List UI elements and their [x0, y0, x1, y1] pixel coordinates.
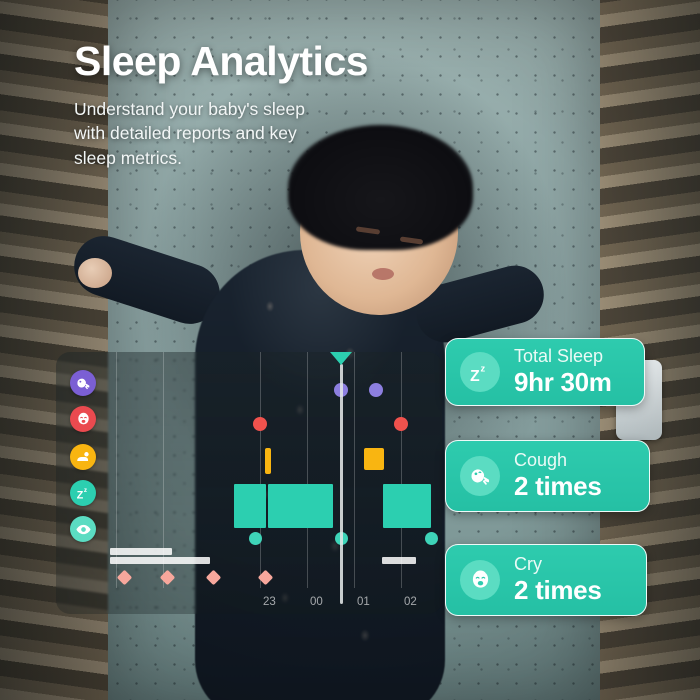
timeline-playhead[interactable]	[340, 364, 343, 604]
baby-hand-left	[78, 258, 112, 288]
headline-block: Sleep Analytics Understand your baby's s…	[74, 40, 434, 171]
timeline-bar-sleep[interactable]	[383, 484, 431, 528]
legend-icon-sleep[interactable]: Zz	[70, 480, 96, 506]
card-value: 2 times	[514, 575, 602, 606]
timeline-dot-cough[interactable]	[369, 383, 383, 397]
timeline-bar-noise-level-low[interactable]	[382, 557, 416, 564]
cry-face-icon	[460, 560, 500, 600]
svg-text:z: z	[83, 487, 86, 494]
timeline-playhead-handle[interactable]	[330, 352, 352, 365]
timeline-bar-roll-over[interactable]	[265, 448, 271, 474]
card-value: 9hr 30m	[514, 367, 612, 398]
timeline-bar-roll-over[interactable]	[364, 448, 384, 470]
timeline-legend-rail: Zz	[70, 358, 110, 614]
card-text: Total Sleep 9hr 30m	[514, 347, 612, 397]
sleep-analytics-screenshot: Sleep Analytics Understand your baby's s…	[0, 0, 700, 700]
card-value: 2 times	[514, 471, 602, 502]
timeline-bar-noise-level-low[interactable]	[110, 557, 210, 564]
svg-text:Z: Z	[470, 367, 480, 384]
legend-icon-cough[interactable]	[70, 370, 96, 396]
page-title: Sleep Analytics	[74, 40, 434, 83]
card-label: Cry	[514, 555, 602, 575]
legend-icon-cry[interactable]	[70, 406, 96, 432]
sleep-timeline-panel[interactable]: Zz 2300010203	[56, 352, 442, 614]
page-subtitle: Understand your baby's sleep with detail…	[74, 97, 326, 172]
timeline-bar-sleep[interactable]	[268, 484, 333, 528]
metric-card-cough[interactable]: Cough 2 times	[445, 440, 650, 512]
card-text: Cough 2 times	[514, 451, 602, 501]
legend-icon-roll-over[interactable]	[70, 444, 96, 470]
legend-icon-awake[interactable]	[70, 516, 96, 542]
axis-tick-label: 02	[404, 596, 417, 608]
card-label: Cough	[514, 451, 602, 471]
axis-tick-label: 00	[310, 596, 323, 608]
sleep-zz-icon: Z z	[460, 352, 500, 392]
timeline-dot-awake[interactable]	[425, 532, 438, 545]
svg-text:Z: Z	[76, 489, 83, 501]
baby-mouth	[372, 268, 394, 280]
gridline	[354, 352, 355, 588]
timeline-plot[interactable]: 2300010203	[110, 352, 442, 614]
cough-icon	[460, 456, 500, 496]
timeline-diamond-motion-events[interactable]	[206, 570, 222, 586]
card-label: Total Sleep	[514, 347, 612, 367]
metric-card-cry[interactable]: Cry 2 times	[445, 544, 647, 616]
svg-text:z: z	[480, 363, 485, 373]
axis-tick-label: 01	[357, 596, 370, 608]
gridline	[401, 352, 402, 588]
metric-card-total-sleep[interactable]: Z z Total Sleep 9hr 30m	[445, 338, 645, 406]
timeline-diamond-motion-events[interactable]	[117, 570, 133, 586]
timeline-bar-noise-level-high[interactable]	[110, 548, 172, 555]
timeline-bar-sleep[interactable]	[234, 484, 266, 528]
axis-tick-label: 23	[263, 596, 276, 608]
timeline-dot-cry[interactable]	[394, 417, 408, 431]
timeline-dot-awake[interactable]	[249, 532, 262, 545]
card-text: Cry 2 times	[514, 555, 602, 605]
timeline-dot-cry[interactable]	[253, 417, 267, 431]
gridline	[260, 352, 261, 588]
gridline	[307, 352, 308, 588]
